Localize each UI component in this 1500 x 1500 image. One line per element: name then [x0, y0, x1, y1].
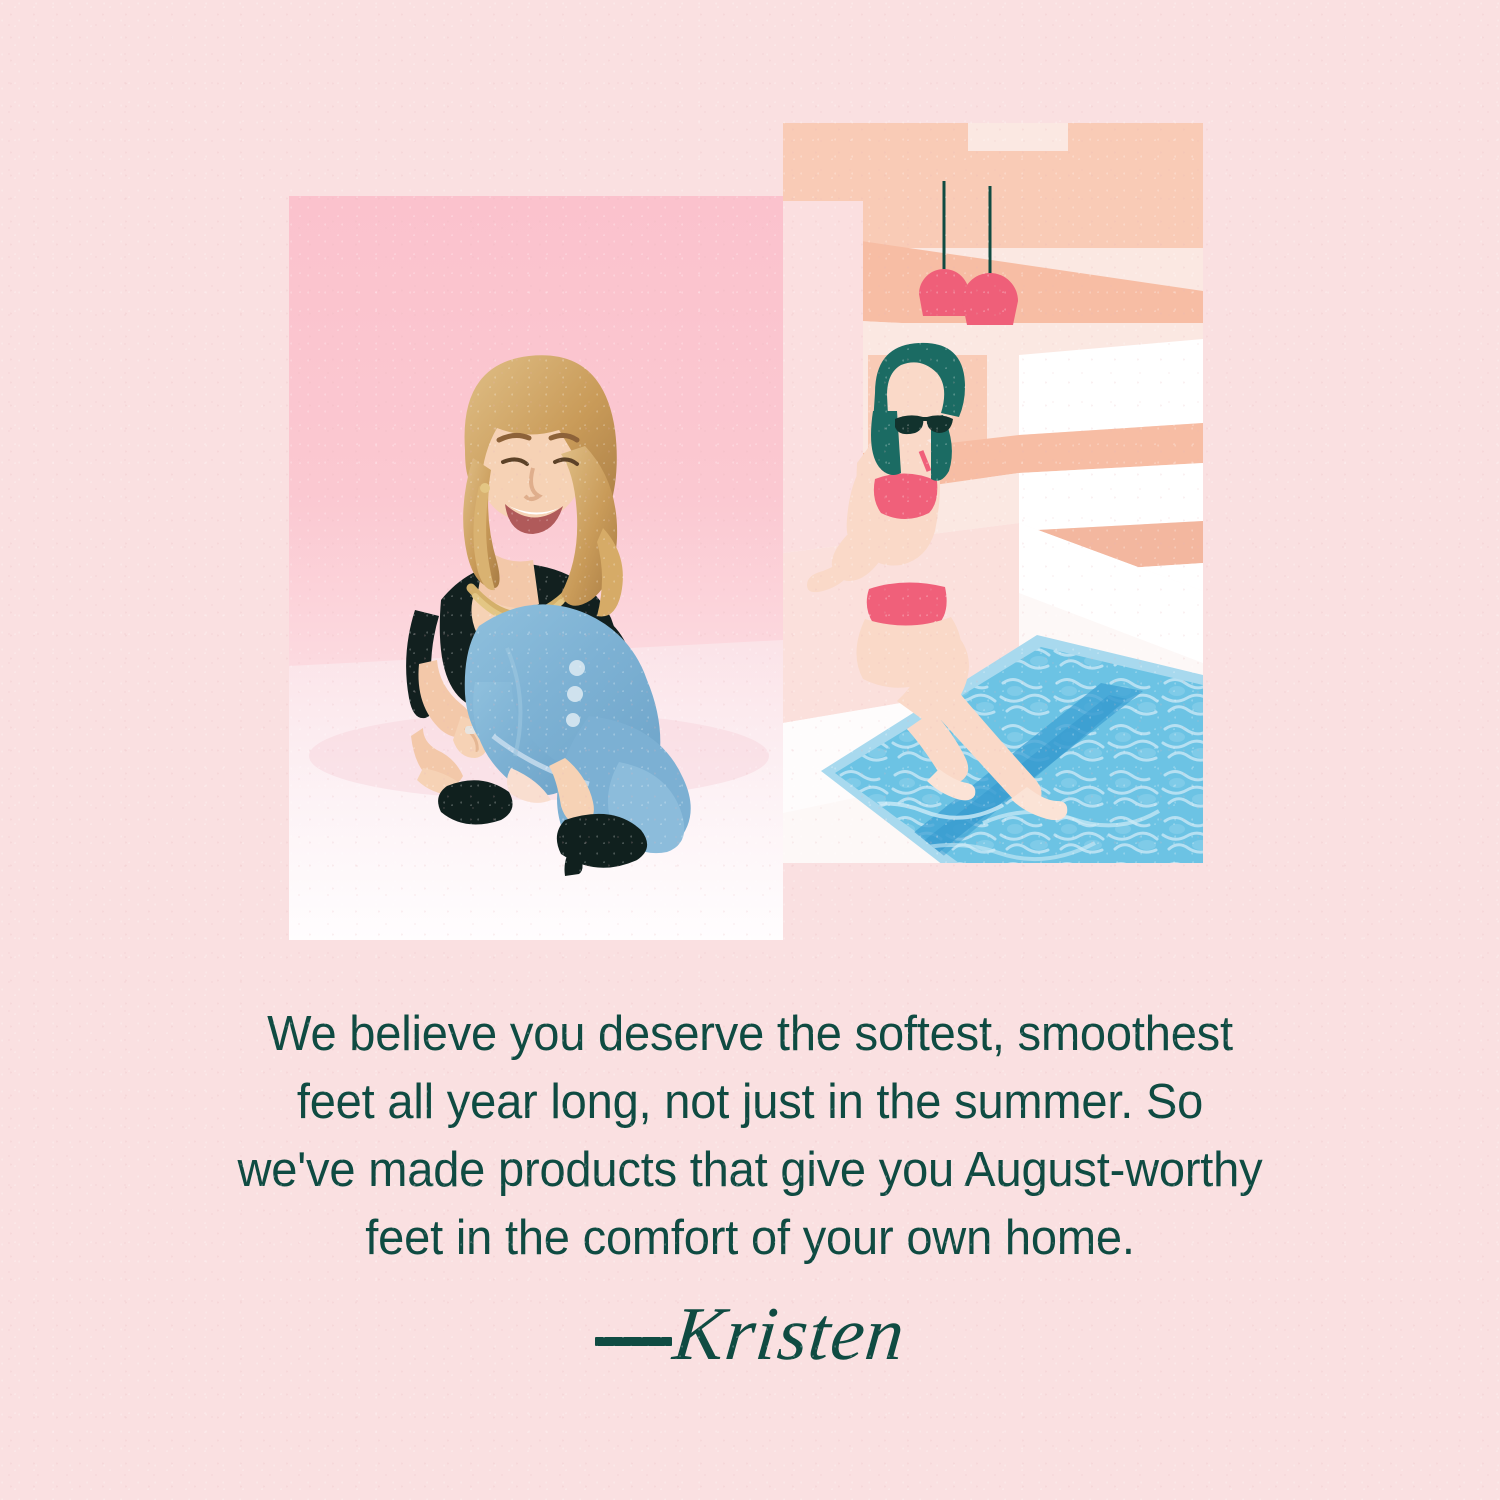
- portrait-photo-panel: [289, 196, 783, 940]
- quote-line-2: feet all year long, not just in the summ…: [145, 1068, 1355, 1136]
- quote-text: We believe you deserve the softest, smoo…: [145, 1000, 1355, 1272]
- card-canvas: We believe you deserve the softest, smoo…: [0, 0, 1500, 1500]
- signature: Kristen: [0, 1296, 1500, 1372]
- quote-line-3: we've made products that give you August…: [145, 1136, 1355, 1204]
- signature-dash-icon: [595, 1337, 672, 1346]
- quote-line-4: feet in the comfort of your own home.: [145, 1204, 1355, 1272]
- pool-illustration-svg: [783, 123, 1203, 863]
- signature-name: Kristen: [670, 1296, 909, 1372]
- pool-illustration-panel: [783, 123, 1203, 863]
- portrait-photo-svg: [289, 196, 783, 940]
- quote-line-1: We believe you deserve the softest, smoo…: [145, 1000, 1355, 1068]
